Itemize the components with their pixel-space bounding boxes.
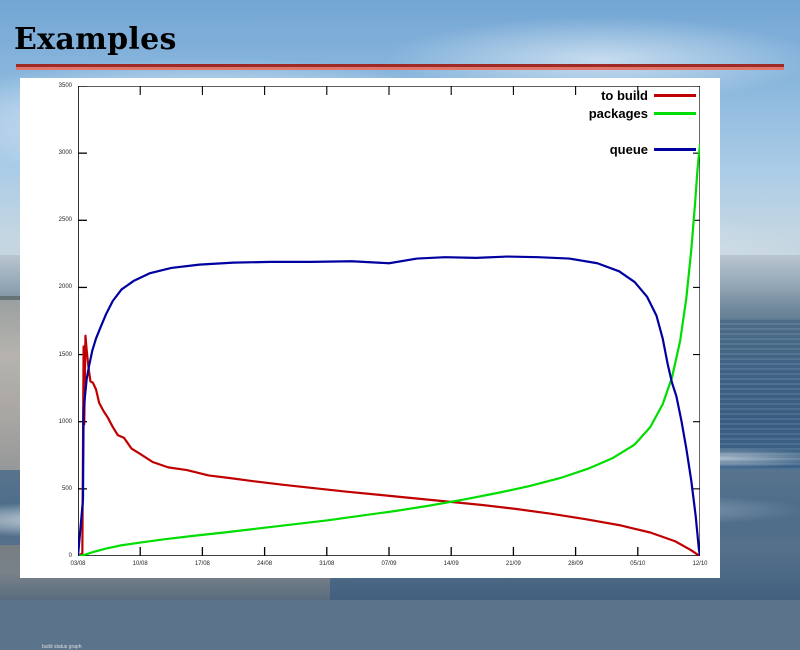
x-axis-tick-label: 12/10 (692, 561, 707, 567)
legend-item-to-build: to build (556, 86, 696, 104)
x-axis-tick-label: 24/08 (257, 561, 272, 567)
y-axis-tick-label: 1500 (59, 352, 72, 358)
chart-panel: to build packages queue build status gra… (20, 78, 720, 578)
y-axis-tick-label: 2500 (59, 217, 72, 223)
x-axis-tick-label: 07/09 (381, 561, 396, 567)
y-axis-tick-label: 0 (69, 553, 72, 559)
y-axis-tick-label: 2000 (59, 284, 72, 290)
legend-label: queue (610, 142, 648, 157)
y-axis-tick-label: 3500 (59, 83, 72, 89)
x-axis-tick-label: 28/09 (568, 561, 583, 567)
x-axis-tick-label: 03/08 (70, 561, 85, 567)
x-axis-tick-label: 14/09 (444, 561, 459, 567)
legend-label: packages (589, 106, 648, 121)
x-axis-tick-label: 31/08 (319, 561, 334, 567)
x-axis-tick-label: 05/10 (630, 561, 645, 567)
y-axis-tick-label: 1000 (59, 419, 72, 425)
chart-legend: to build packages queue (556, 86, 696, 158)
y-axis-tick-label: 3000 (59, 150, 72, 156)
line-swatch-icon (654, 148, 696, 151)
page-title: Examples (14, 22, 177, 57)
legend-item-packages: packages (556, 104, 696, 122)
divider-light-bar (16, 67, 784, 70)
x-axis-tick-label: 17/08 (195, 561, 210, 567)
title-divider (16, 64, 784, 70)
line-swatch-icon (654, 112, 696, 115)
line-swatch-icon (654, 94, 696, 97)
x-axis-tick-label: 21/09 (506, 561, 521, 567)
legend-item-queue: queue (556, 140, 696, 158)
x-axis-tick-label: 10/08 (133, 561, 148, 567)
legend-label: to build (601, 88, 648, 103)
y-axis-tick-label: 500 (62, 486, 72, 492)
footnote-caption: build status graph (42, 644, 81, 650)
